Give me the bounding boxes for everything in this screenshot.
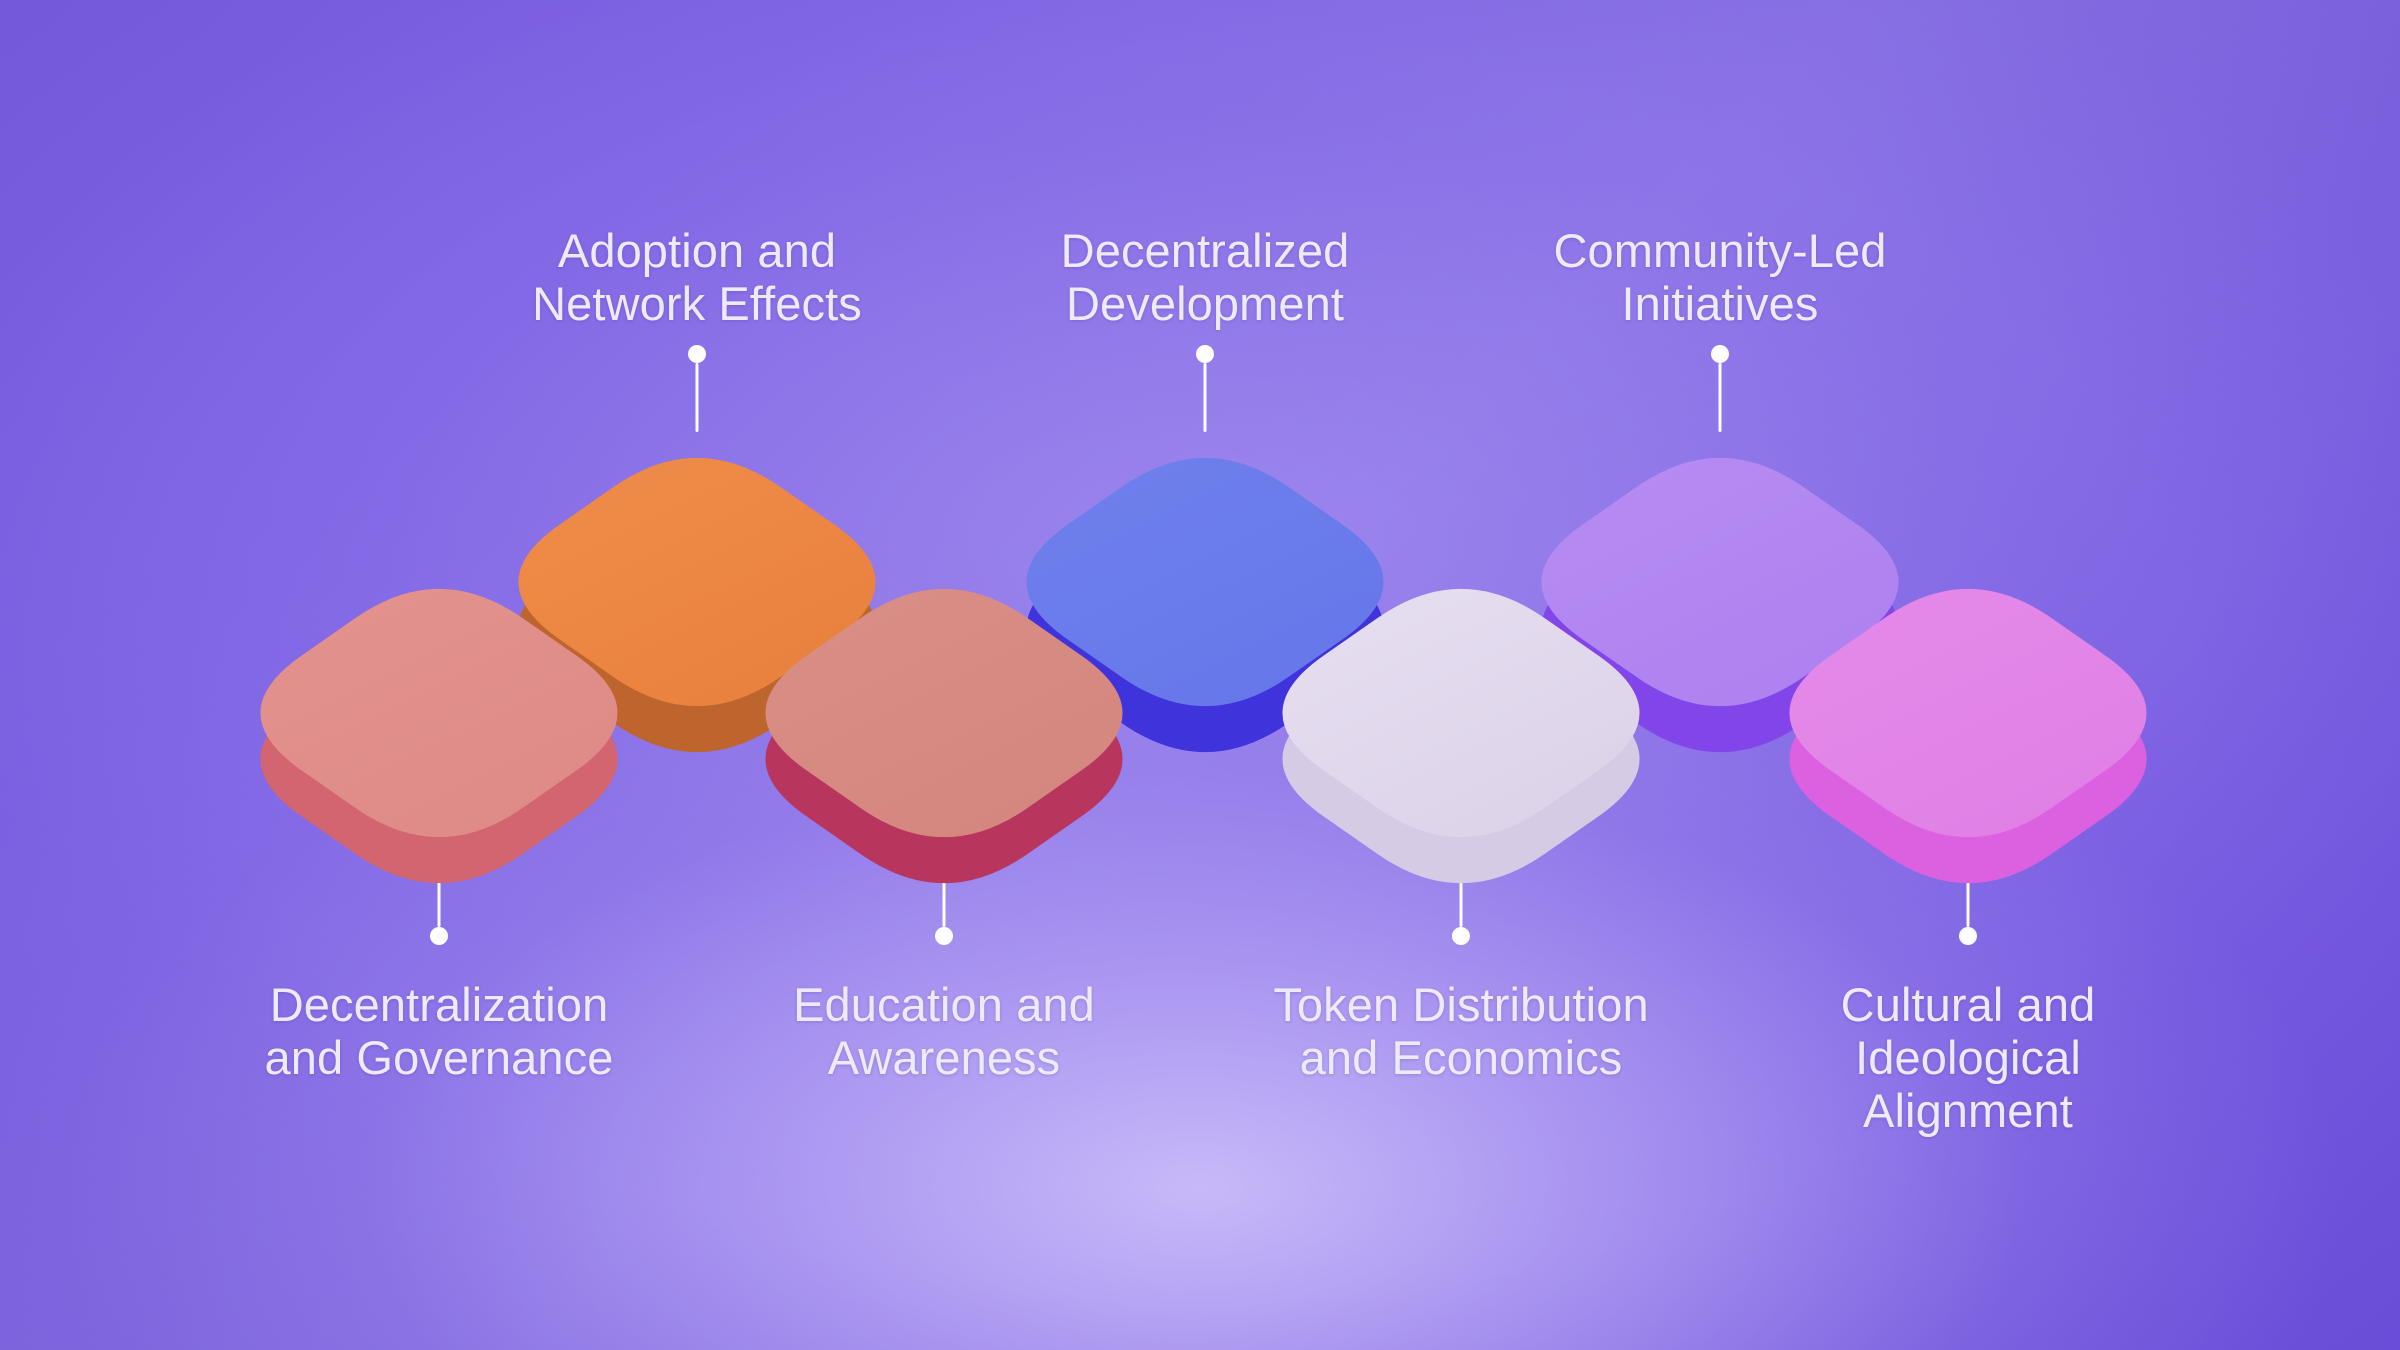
diamond-node-token-distribution-economics[interactable] <box>1241 560 1681 912</box>
connector-line <box>1204 363 1207 432</box>
diamond-node-education-awareness[interactable] <box>724 560 1164 912</box>
diamond-top-face <box>724 560 1164 912</box>
node-label-cultural-ideological-alignment: Cultural and Ideological Alignment <box>1841 978 2096 1137</box>
node-label-community-led-initiatives: Community-Led Initiatives <box>1553 224 1886 330</box>
connector-line <box>696 363 699 432</box>
connector-decentralized-development <box>1204 345 1207 432</box>
connector-adoption-network-effects <box>696 345 699 432</box>
connector-dot <box>1711 345 1729 363</box>
infographic-canvas: Decentralization and GovernanceAdoption … <box>0 0 2400 1350</box>
diamond-top-face <box>219 560 659 912</box>
connector-dot <box>1196 345 1214 363</box>
connector-dot <box>1452 927 1470 945</box>
connector-line <box>1719 363 1722 432</box>
node-label-token-distribution-economics: Token Distribution and Economics <box>1273 978 1648 1084</box>
node-label-decentralization-governance: Decentralization and Governance <box>265 978 614 1084</box>
node-label-education-awareness: Education and Awareness <box>793 978 1095 1084</box>
connector-dot <box>935 927 953 945</box>
connector-community-led-initiatives <box>1719 345 1722 432</box>
diamond-node-cultural-ideological-alignment[interactable] <box>1748 560 2188 912</box>
diamond-top-face <box>1748 560 2188 912</box>
connector-dot <box>688 345 706 363</box>
node-label-decentralized-development: Decentralized Development <box>1061 224 1350 330</box>
connector-dot <box>430 927 448 945</box>
node-label-adoption-network-effects: Adoption and Network Effects <box>532 224 862 330</box>
connector-dot <box>1959 927 1977 945</box>
diamond-node-decentralization-governance[interactable] <box>219 560 659 912</box>
diamond-top-face <box>1241 560 1681 912</box>
